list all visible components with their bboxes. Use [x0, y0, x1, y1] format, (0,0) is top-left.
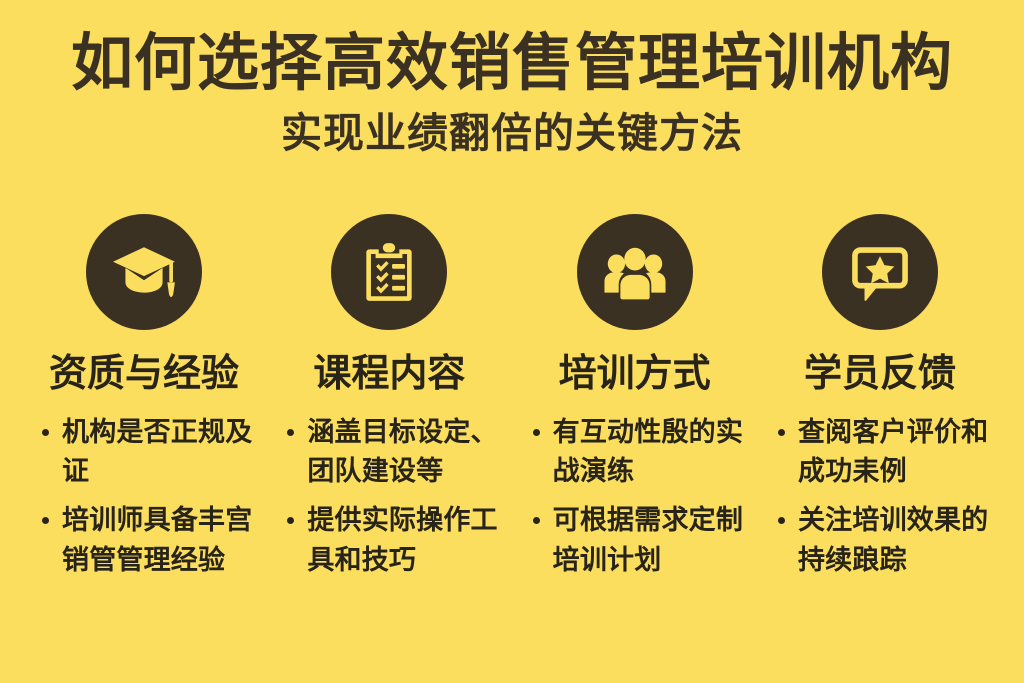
bullet-list: 机构是否正规及证 培训师具备丰宫销管管理经验: [26, 413, 262, 591]
bullet-text: 机构是否正规及证: [62, 413, 262, 492]
bullet-text: 可根据需求定制培训计划: [553, 501, 753, 580]
list-item: 培训师具备丰宫销管管理经验: [40, 501, 262, 580]
column-heading: 培训方式: [559, 352, 711, 395]
infographic-poster: 如何选择高效销售管理培训机构 实现业绩翻倍的关键方法 资质与经验 机构是否正规及…: [0, 0, 1024, 683]
bullet-text: 关注培训效果的持续踉踪: [798, 501, 998, 580]
column-heading: 资质与经验: [49, 352, 239, 395]
bullet-list: 有互动性殷的实战演练 可根据需求定制培训计划: [517, 413, 753, 591]
bullet-dot-icon: [287, 429, 294, 436]
poster-header: 如何选择高效销售管理培训机构 实现业绩翻倍的关键方法: [0, 30, 1024, 156]
page-title: 如何选择高效销售管理培训机构: [0, 30, 1024, 97]
bullet-text: 涵盖目标设定、团队建设等: [307, 413, 507, 492]
list-item: 提供实际操作工具和技巧: [285, 501, 507, 580]
columns-container: 资质与经验 机构是否正规及证 培训师具备丰宫销管管理经验: [0, 214, 1024, 590]
bullet-dot-icon: [42, 429, 49, 436]
bullet-text: 培训师具备丰宫销管管理经验: [62, 501, 262, 580]
list-item: 关注培训效果的持续踉踪: [776, 501, 998, 580]
graduation-cap-icon: [86, 214, 202, 330]
bullet-dot-icon: [778, 517, 785, 524]
column-heading: 课程内容: [313, 352, 465, 395]
column-student-feedback: 学员反馈 查阅客户评价和成功耒例 关注培训效果的持续踉踪: [762, 214, 998, 590]
people-group-icon: [577, 214, 693, 330]
page-subtitle: 实现业绩翻倍的关键方法: [0, 111, 1024, 156]
bullet-list: 涵盖目标设定、团队建设等 提供实际操作工具和技巧: [271, 413, 507, 591]
column-heading: 学员反馈: [804, 352, 956, 395]
bullet-dot-icon: [287, 517, 294, 524]
bullet-list: 查阅客户评价和成功耒例 关注培训效果的持续踉踪: [762, 413, 998, 591]
bullet-dot-icon: [533, 429, 540, 436]
column-training-method: 培训方式 有互动性殷的实战演练 可根据需求定制培训计划: [517, 214, 753, 590]
bullet-text: 查阅客户评价和成功耒例: [798, 413, 998, 492]
list-item: 可根据需求定制培训计划: [531, 501, 753, 580]
column-curriculum: 课程内容 涵盖目标设定、团队建设等 提供实际操作工具和技巧: [271, 214, 507, 590]
speech-bubble-star-icon: [822, 214, 938, 330]
bullet-dot-icon: [778, 429, 785, 436]
bullet-text: 提供实际操作工具和技巧: [307, 501, 507, 580]
clipboard-checklist-icon: [331, 214, 447, 330]
list-item: 有互动性殷的实战演练: [531, 413, 753, 492]
list-item: 涵盖目标设定、团队建设等: [285, 413, 507, 492]
column-qualification: 资质与经验 机构是否正规及证 培训师具备丰宫销管管理经验: [26, 214, 262, 590]
bullet-dot-icon: [533, 517, 540, 524]
list-item: 机构是否正规及证: [40, 413, 262, 492]
bullet-dot-icon: [42, 517, 49, 524]
bullet-text: 有互动性殷的实战演练: [553, 413, 753, 492]
list-item: 查阅客户评价和成功耒例: [776, 413, 998, 492]
